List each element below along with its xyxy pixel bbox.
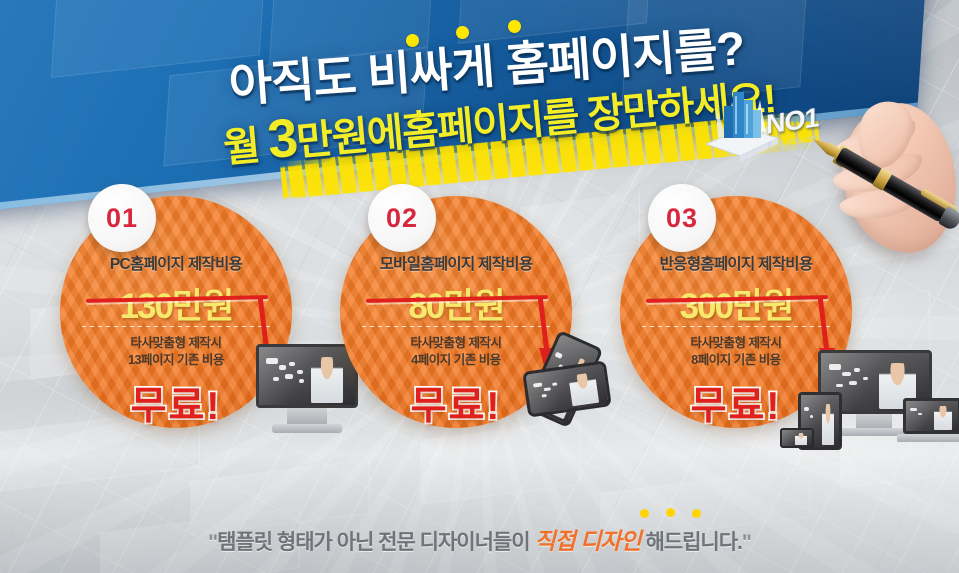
headline-secondary-price: 3 bbox=[265, 108, 299, 170]
screen-person-3t bbox=[822, 404, 835, 445]
card-badge-1: 01 bbox=[88, 184, 156, 252]
monitor-stand-1 bbox=[287, 406, 327, 426]
laptop-3 bbox=[903, 398, 959, 434]
card-badge-number-3: 03 bbox=[666, 203, 698, 234]
tagline-dot-3 bbox=[692, 509, 701, 518]
headline-secondary-pre: 월 bbox=[222, 123, 271, 171]
card-badge-3: 03 bbox=[648, 184, 716, 252]
card-title-1: PC홈페이지 제작비용 bbox=[60, 252, 292, 274]
card-price-row-3: 300만원 bbox=[620, 278, 852, 322]
screen-person-3p bbox=[795, 433, 807, 445]
card-price-row-1: 130만원 bbox=[60, 278, 292, 322]
screen-person-3l bbox=[934, 406, 952, 429]
laptop-keyboard-3 bbox=[897, 434, 959, 442]
card-price-row-2: 80만원 bbox=[340, 278, 572, 322]
tagline-highlight: 직접 디자인 bbox=[534, 528, 640, 554]
card-title-2: 모바일홈페이지 제작비용 bbox=[340, 252, 572, 274]
footer-tagline: "탬플릿 형태가 아닌 전문 디자이너들이 직접 디자인 해드립니다." bbox=[0, 522, 959, 556]
tagline-text-before: 탬플릿 형태가 아닌 전문 디자이너들이 bbox=[217, 531, 534, 554]
smartphone-3 bbox=[780, 428, 814, 448]
card-badge-number-2: 02 bbox=[386, 203, 418, 234]
tagline-quote-open: " bbox=[208, 531, 217, 554]
card-badge-2: 02 bbox=[368, 184, 436, 252]
tagline-quote-close: " bbox=[742, 531, 751, 554]
promo-banner: 아직도 비싸게 홈페이지를? 월 3만원에홈페이지를 장만하세요! NO1 NO… bbox=[0, 0, 959, 573]
monitor-base-1 bbox=[272, 424, 342, 433]
card-title-3: 반응형홈페이지 제작비용 bbox=[620, 252, 852, 274]
tagline-text-after: 해드립니다. bbox=[641, 531, 742, 554]
card-badge-number-1: 01 bbox=[106, 203, 138, 234]
screen-person-2a bbox=[568, 372, 599, 407]
tagline-dot-2 bbox=[666, 508, 675, 517]
screen-person-1 bbox=[311, 357, 344, 402]
tagline-dot-1 bbox=[640, 509, 649, 518]
